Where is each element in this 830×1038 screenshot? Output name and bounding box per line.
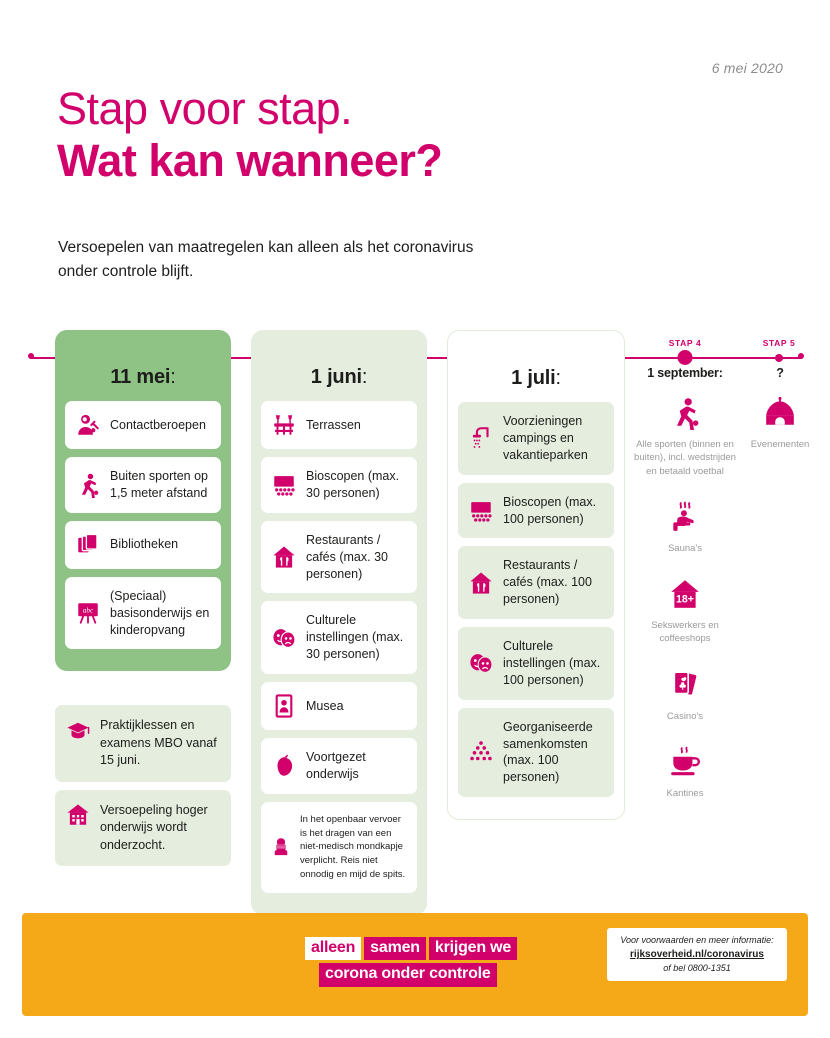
outdoor-sports-icon bbox=[75, 472, 101, 498]
measure-icon-label: Kantines bbox=[633, 787, 737, 800]
measure-card[interactable]: Contactberoepen bbox=[65, 401, 221, 449]
step-3-date-colon: : bbox=[556, 367, 561, 389]
step-1-notes: Praktijklessen en examens MBO vanaf 15 j… bbox=[55, 705, 231, 874]
adult-18plus-icon: 18+ bbox=[668, 577, 702, 611]
info-phone-text: of bel 0800-1351 bbox=[663, 962, 731, 976]
measure-icon-item[interactable]: Evenementen bbox=[737, 396, 823, 451]
measure-card[interactable]: Georganiseerde samenkomsten (max. 100 pe… bbox=[458, 708, 614, 798]
measure-icon-label: Sauna's bbox=[633, 542, 737, 555]
intro-paragraph: Versoepelen van maatregelen kan alleen a… bbox=[58, 236, 488, 284]
info-intro-text: Voor voorwaarden en meer informatie: bbox=[620, 934, 773, 948]
note-label: Versoepeling hoger onderwijs wordt onder… bbox=[100, 802, 221, 855]
step-1-date: 11 mei: bbox=[65, 366, 221, 389]
step-3-date-text: 1 juli bbox=[511, 367, 555, 389]
measure-label: Musea bbox=[306, 698, 344, 715]
measure-card[interactable]: Voortgezet onderwijs bbox=[261, 738, 417, 794]
measure-card[interactable]: Restaurants / cafés (max. 30 personen) bbox=[261, 521, 417, 594]
info-url-link[interactable]: rijksoverheid.nl/coronavirus bbox=[630, 947, 764, 962]
step-2-date-text: 1 juni bbox=[311, 366, 362, 388]
svg-text:abc: abc bbox=[83, 606, 94, 615]
measure-card[interactable]: In het openbaar vervoer is het dragen va… bbox=[261, 802, 417, 893]
measure-label: Culturele instellingen (max. 30 personen… bbox=[306, 612, 407, 663]
museum-icon bbox=[271, 693, 297, 719]
gathering-people-icon bbox=[468, 739, 494, 765]
logo-chip-alleen: alleen bbox=[305, 937, 361, 960]
logo-row-2: corona onder controle bbox=[305, 963, 527, 986]
step-column-4: 1 september: Alle sporten (binnen en bui… bbox=[633, 330, 737, 822]
culture-masks-icon bbox=[271, 625, 297, 651]
logo-chip-corona-onder-controle: corona onder controle bbox=[319, 963, 497, 986]
contact-professions-icon bbox=[75, 412, 101, 438]
culture-masks-icon bbox=[468, 650, 494, 676]
step-4-date: 1 september: bbox=[633, 366, 737, 380]
measure-card[interactable]: Buiten sporten op 1,5 meter afstand bbox=[65, 457, 221, 513]
measure-label: Voorzieningen campings en vakantieparken bbox=[503, 413, 604, 464]
cinema-icon bbox=[468, 498, 494, 524]
step-column-1: 11 mei: Contactberoepen Buiten sporten o… bbox=[55, 330, 231, 671]
step-5-date: ? bbox=[737, 366, 823, 380]
measure-label: Buiten sporten op 1,5 meter afstand bbox=[110, 468, 211, 502]
measure-card[interactable]: Culturele instellingen (max. 30 personen… bbox=[261, 601, 417, 674]
measure-label: Culturele instellingen (max. 100 persone… bbox=[503, 638, 604, 689]
logo-chip-krijgen-we: krijgen we bbox=[429, 937, 517, 960]
casino-cards-icon bbox=[668, 668, 702, 702]
measure-label: (Speciaal) basisonderwijs en kinderopvan… bbox=[110, 588, 211, 639]
sauna-icon bbox=[668, 500, 702, 534]
primary-school-icon: abc bbox=[75, 600, 101, 626]
measure-icon-item[interactable]: Kantines bbox=[633, 745, 737, 800]
measure-label: Bibliotheken bbox=[110, 536, 178, 553]
svg-text:18+: 18+ bbox=[676, 594, 694, 606]
measure-icon-item[interactable]: Casino's bbox=[633, 668, 737, 723]
measure-card[interactable]: Voorzieningen campings en vakantieparken bbox=[458, 402, 614, 475]
step-column-3: 1 juli: Voorzieningen campings en vakant… bbox=[447, 330, 625, 820]
measure-label: Voortgezet onderwijs bbox=[306, 749, 407, 783]
restaurant-icon bbox=[271, 544, 297, 570]
face-mask-icon bbox=[271, 837, 291, 857]
step-2-date: 1 juni: bbox=[261, 366, 417, 389]
campaign-logo: alleen samen krijgen we corona onder con… bbox=[305, 937, 527, 990]
measure-card[interactable]: Culturele instellingen (max. 100 persone… bbox=[458, 627, 614, 700]
measure-card[interactable]: Bibliotheken bbox=[65, 521, 221, 569]
step-1-date-colon: : bbox=[170, 366, 175, 388]
note-card[interactable]: Praktijklessen en examens MBO vanaf 15 j… bbox=[55, 705, 231, 782]
restaurant-icon bbox=[468, 570, 494, 596]
sports-runner-icon bbox=[668, 396, 702, 430]
step-column-2: 1 juni: Terrassen Bioscopen bbox=[251, 330, 427, 915]
date-stamp: 6 mei 2020 bbox=[712, 60, 783, 76]
step-2-date-colon: : bbox=[362, 366, 367, 388]
measure-label: Bioscopen (max. 100 personen) bbox=[503, 494, 604, 528]
canteen-cup-icon bbox=[668, 745, 702, 779]
measure-icon-item[interactable]: Alle sporten (binnen en buiten), incl. w… bbox=[633, 396, 737, 478]
info-box: Voor voorwaarden en meer informatie: rij… bbox=[607, 928, 787, 981]
measure-label: Restaurants / cafés (max. 30 personen) bbox=[306, 532, 407, 583]
infographic-page: 6 mei 2020 Stap voor stap. Wat kan wanne… bbox=[0, 0, 830, 1038]
measure-icon-label: Evenementen bbox=[737, 438, 823, 451]
events-tent-icon bbox=[763, 396, 797, 430]
measure-icon-label: Sekswerkers en coffeeshops bbox=[633, 619, 737, 646]
graduation-cap-icon bbox=[65, 717, 91, 743]
terrace-icon bbox=[271, 412, 297, 438]
note-label: Praktijklessen en examens MBO vanaf 15 j… bbox=[100, 717, 221, 770]
logo-chip-samen: samen bbox=[364, 937, 426, 960]
measure-card[interactable]: abc (Speciaal) basisonderwijs en kindero… bbox=[65, 577, 221, 650]
measure-label: Restaurants / cafés (max. 100 personen) bbox=[503, 557, 604, 608]
step-1-date-text: 11 mei bbox=[110, 366, 170, 388]
note-card[interactable]: Versoepeling hoger onderwijs wordt onder… bbox=[55, 790, 231, 867]
measure-icon-item[interactable]: Sauna's bbox=[633, 500, 737, 555]
measure-icon-label: Alle sporten (binnen en buiten), incl. w… bbox=[633, 438, 737, 478]
shower-camping-icon bbox=[468, 425, 494, 451]
measure-card[interactable]: Bioscopen (max. 30 personen) bbox=[261, 457, 417, 513]
title-line-1: Stap voor stap. bbox=[57, 85, 442, 132]
measure-icon-label: Casino's bbox=[633, 710, 737, 723]
title-line-2: Wat kan wanneer? bbox=[57, 136, 442, 186]
measure-label: Contactberoepen bbox=[110, 417, 206, 434]
secondary-school-icon bbox=[271, 753, 297, 779]
measure-label: Bioscopen (max. 30 personen) bbox=[306, 468, 407, 502]
page-title: Stap voor stap. Wat kan wanneer? bbox=[57, 85, 442, 187]
measure-card[interactable]: Terrassen bbox=[261, 401, 417, 449]
measure-label: In het openbaar vervoer is het dragen va… bbox=[300, 813, 407, 882]
logo-row-1: alleen samen krijgen we bbox=[305, 937, 527, 960]
step-3-date: 1 juli: bbox=[458, 367, 614, 390]
measure-icon-item[interactable]: 18+ Sekswerkers en coffeeshops bbox=[633, 577, 737, 646]
step-4-date-text: 1 september bbox=[647, 366, 718, 380]
measure-card[interactable]: Musea bbox=[261, 682, 417, 730]
measure-label: Georganiseerde samenkomsten (max. 100 pe… bbox=[503, 719, 604, 787]
university-building-icon bbox=[65, 802, 91, 828]
measure-label: Terrassen bbox=[306, 417, 361, 434]
measure-card[interactable]: Restaurants / cafés (max. 100 personen) bbox=[458, 546, 614, 619]
step-4-date-colon: : bbox=[719, 366, 723, 380]
measure-card[interactable]: Bioscopen (max. 100 personen) bbox=[458, 483, 614, 539]
library-books-icon bbox=[75, 532, 101, 558]
cinema-icon bbox=[271, 472, 297, 498]
timeline-endcap-left bbox=[28, 353, 34, 359]
step-column-5: ? Evenementen bbox=[737, 330, 823, 473]
step-5-date-text: ? bbox=[776, 366, 783, 380]
